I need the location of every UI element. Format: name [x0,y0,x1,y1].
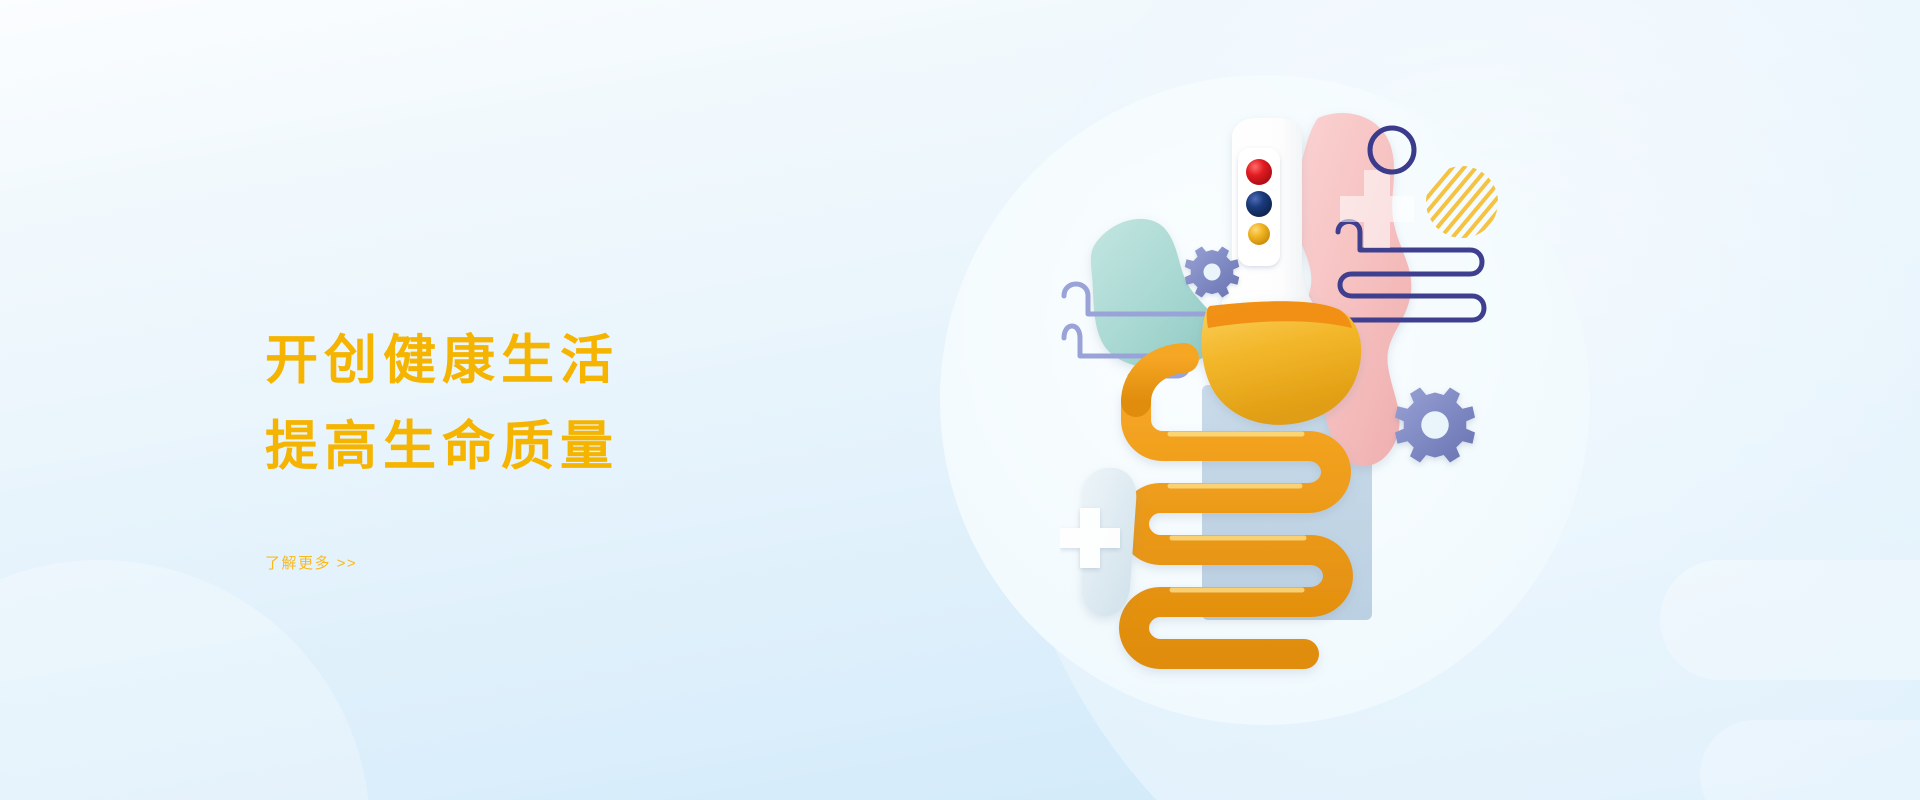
background-pill-shape-1 [1660,560,1920,680]
striped-circle [1426,166,1498,238]
gear-large [1395,388,1475,463]
learn-more-link[interactable]: 了解更多 >> [265,552,357,573]
hero-banner: 开创健康生活 提高生命质量 了解更多 >> [0,0,1920,800]
background-pill-shape-2 [1700,720,1920,800]
hero-copy: 开创健康生活 提高生命质量 了解更多 >> [265,318,885,573]
digestive-system-illustration [1060,100,1540,720]
intestine-stomach-link [1136,358,1184,402]
headline-line-2: 提高生命质量 [265,404,885,490]
headline-line-1: 开创健康生活 [265,318,885,404]
background-circle-decoration [0,560,370,800]
pill-capsule-tube [1238,148,1280,266]
pill-navy [1246,191,1272,217]
pill-yellow [1248,223,1270,245]
pill-red [1246,159,1272,185]
